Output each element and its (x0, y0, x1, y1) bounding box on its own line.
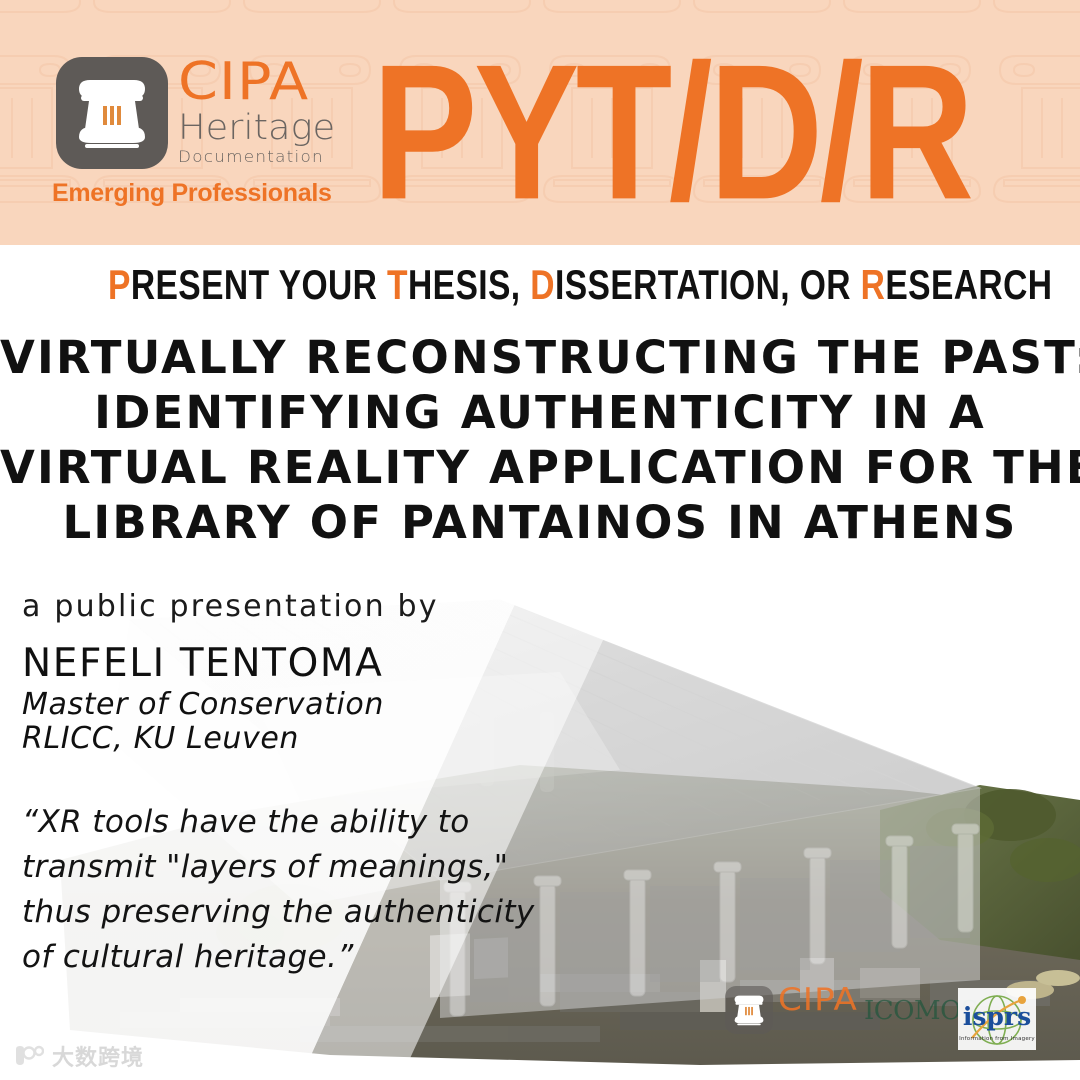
ionic-column-icon (73, 75, 151, 151)
cipa-wordmark-cipa: CIPA (178, 55, 367, 109)
ionic-column-icon (732, 993, 766, 1027)
subtitle-part-5: ISSERTATION, OR (555, 261, 861, 308)
title-line-3: VIRTUAL REALITY APPLICATION FOR THE (0, 440, 1080, 495)
series-subtitle: PRESENT YOUR THESIS, DISSERTATION, OR RE… (108, 262, 972, 308)
cipa-logo-small (725, 986, 773, 1034)
presenter-byline: a public presentation by (22, 589, 439, 625)
title-line-1: VIRTUALLY RECONSTRUCTING THE PAST: (0, 330, 1080, 385)
title-line-4: LIBRARY OF PANTAINOS IN ATHENS (0, 495, 1080, 550)
title-line-2: IDENTIFYING AUTHENTICITY IN A (0, 385, 1080, 440)
presenter-affiliation-line-1: Master of Conservation (22, 688, 384, 722)
partner-logo-row: CIPA ICOMOS isprs Information from Image… (720, 984, 1040, 1054)
isprs-tagline: Information from Imagery (958, 1036, 1036, 1042)
subtitle-part-6: R (861, 261, 886, 308)
subtitle-part-3: HESIS, (408, 261, 530, 308)
presenter-quote: “XR tools have the ability to transmit "… (22, 800, 542, 980)
cipa-wordmark-heritage: Heritage (178, 109, 359, 147)
isprs-logo: isprs Information from Imagery (958, 988, 1036, 1050)
subtitle-part-4: D (530, 261, 555, 308)
subtitle-part-1: RESENT YOUR (131, 261, 387, 308)
watermark-text: 大数跨境 (52, 1040, 144, 1072)
presenter-affiliation: Master of Conservation RLICC, KU Leuven (22, 688, 384, 756)
cipa-wordmark-documentation: Documentation (178, 147, 359, 167)
cipa-wordmark: CIPA Heritage Documentation (178, 55, 350, 167)
subtitle-part-0: P (108, 261, 131, 308)
cipa-logo-lockup: CIPA Heritage Documentation Emerging Pro… (50, 55, 350, 210)
dashujingjing-logo-icon (14, 1045, 44, 1067)
cipa-tagline-emerging-professionals: Emerging Professionals (52, 179, 332, 208)
cipa-logo-small-label: CIPA (778, 982, 858, 1018)
subtitle-part-2: T (387, 261, 408, 308)
presenter-name: NEFELI TENTOMA (22, 641, 383, 687)
subtitle-part-7: ESEARCH (885, 261, 1052, 308)
isprs-wordmark: isprs (958, 1002, 1036, 1031)
presentation-title: VIRTUALLY RECONSTRUCTING THE PAST: IDENT… (0, 330, 1080, 550)
presenter-affiliation-line-2: RLICC, KU Leuven (22, 722, 384, 756)
series-title-pytdr: PYT/D/R (372, 36, 970, 229)
cipa-logo-mark (56, 57, 168, 169)
header-band: CIPA Heritage Documentation Emerging Pro… (0, 0, 1080, 245)
watermark: 大数跨境 (14, 1040, 144, 1072)
